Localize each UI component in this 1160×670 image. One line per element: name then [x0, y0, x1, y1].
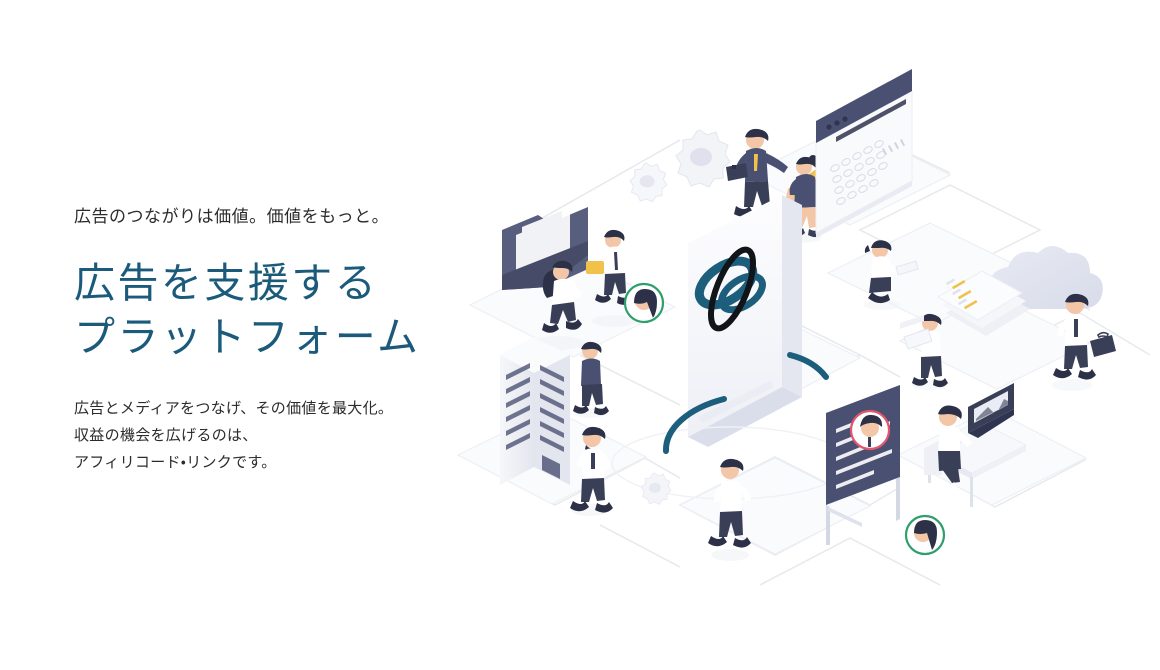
- headline-line-1: 広告を支援する: [74, 260, 378, 306]
- building-icon: [500, 337, 570, 485]
- hero-illustration: [430, 55, 1160, 615]
- illustration-canvas: [430, 55, 1160, 615]
- hero-section: 広告のつながりは価値。価値をもっと。 広告を支援する プラットフォーム 広告とメ…: [0, 0, 1160, 670]
- hero-description: 広告とメディアをつなげ、その価値を最大化。 収益の機会を広げるのは、 アフィリコ…: [74, 395, 474, 477]
- description-line-3: アフィリコード・リンクです。: [74, 449, 474, 476]
- headline-line-2: プラットフォーム: [74, 310, 474, 365]
- gear-small-icon: [641, 473, 671, 504]
- page-title: 広告を支援する プラットフォーム: [74, 256, 474, 365]
- hero-tagline: 広告のつながりは価値。価値をもっと。: [74, 204, 474, 230]
- description-line-2: 収益の機会を広げるのは、: [74, 422, 474, 449]
- avatar-green-bottom: [906, 516, 944, 564]
- description-line-1: 広告とメディアをつなげ、その価値を最大化。: [74, 395, 474, 422]
- hero-copy: 広告のつながりは価値。価値をもっと。 広告を支援する プラットフォーム 広告とメ…: [74, 204, 474, 477]
